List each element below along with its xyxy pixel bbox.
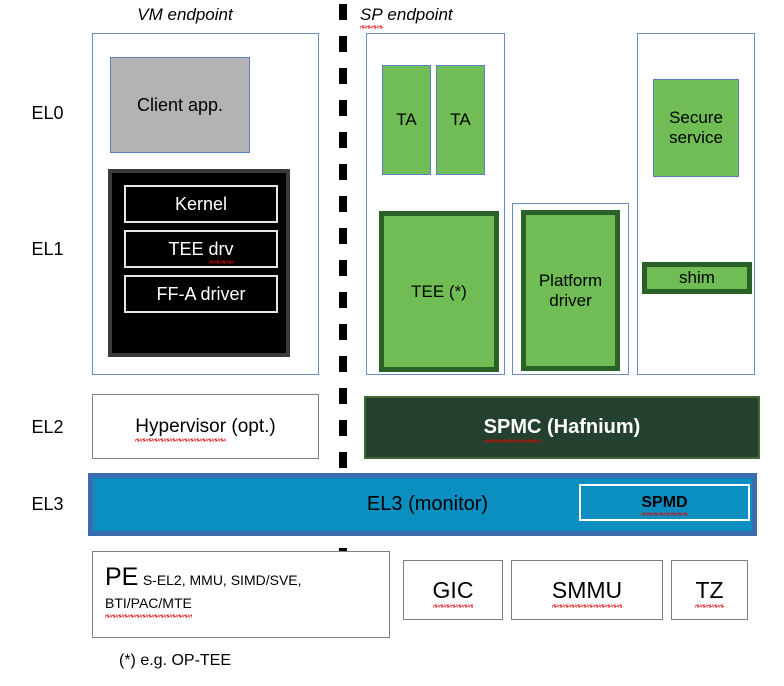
spmd-label: SPMD xyxy=(641,494,687,512)
kernel-box: Kernel xyxy=(124,185,278,223)
trusted-app-box-2: TA xyxy=(436,65,485,175)
platform-driver-line1: Platform xyxy=(539,271,602,290)
tee-box: TEE (*) xyxy=(379,211,499,372)
tz-box: TZ xyxy=(671,560,748,620)
spmc-suffix: (Hafnium) xyxy=(541,416,640,438)
el-label-el3: EL3 xyxy=(10,494,85,515)
smmu-box: SMMU xyxy=(511,560,663,620)
tz-label: TZ xyxy=(695,577,723,604)
ffa-driver-label: FF-A driver xyxy=(156,284,245,305)
hypervisor-misspelled-word: Hypervisor xyxy=(135,416,226,438)
trusted-app-box-1: TA xyxy=(382,65,431,175)
pe-box: PE S-EL2, MMU, SIMD/SVE, BTI/PAC/MTE xyxy=(92,551,390,638)
tee-driver-misspelled-word: drv xyxy=(209,239,234,260)
architecture-diagram: VM endpoint SP endpoint EL0 EL1 EL2 EL3 … xyxy=(0,0,784,686)
secure-service-line1: Secure xyxy=(669,108,723,127)
trusted-app-label-1: TA xyxy=(396,110,416,130)
gic-label: GIC xyxy=(433,577,474,604)
pe-features-line2: BTI/PAC/MTE xyxy=(105,593,192,614)
platform-driver-box: Platform driver xyxy=(521,210,620,371)
tee-driver-box: TEE drv xyxy=(124,230,278,268)
secure-service-line2: service xyxy=(669,128,723,147)
spmc-misspelled-word: SPMC xyxy=(484,416,542,439)
sp-endpoint-rest: endpoint xyxy=(383,5,453,24)
vm-os-stack-box: Kernel TEE drv FF-A driver xyxy=(108,169,290,357)
sp-endpoint-misspelled-word: SP xyxy=(360,5,383,25)
secure-service-label: Secure service xyxy=(669,108,723,147)
security-boundary-dashed-line xyxy=(339,4,347,552)
tee-driver-label: TEE drv xyxy=(168,239,233,260)
client-app-box: Client app. xyxy=(110,57,250,153)
gic-box: GIC xyxy=(403,560,503,620)
vm-endpoint-label: VM endpoint xyxy=(105,5,265,25)
tee-label: TEE (*) xyxy=(411,282,467,302)
kernel-label: Kernel xyxy=(175,194,227,215)
platform-driver-label: Platform driver xyxy=(539,271,602,310)
el-label-el0: EL0 xyxy=(10,103,85,124)
trusted-app-label-2: TA xyxy=(450,110,470,130)
footnote-label: (*) e.g. OP-TEE xyxy=(119,652,231,670)
el3-monitor-bar: EL3 (monitor) SPMD xyxy=(88,473,757,536)
spmd-box: SPMD xyxy=(579,484,750,521)
pe-features-line1: S-EL2, MMU, SIMD/SVE, xyxy=(143,572,302,588)
client-app-label: Client app. xyxy=(137,95,223,116)
ffa-driver-box: FF-A driver xyxy=(124,275,278,313)
spmc-box: SPMC (Hafnium) xyxy=(364,396,760,459)
shim-label: shim xyxy=(679,268,715,288)
hypervisor-rest: (opt.) xyxy=(226,416,276,437)
platform-driver-line2: driver xyxy=(549,291,592,310)
el-label-el1: EL1 xyxy=(10,239,85,260)
el-label-el2: EL2 xyxy=(10,417,85,438)
sp-endpoint-label: SP endpoint xyxy=(360,5,520,25)
pe-label: PE xyxy=(105,563,138,591)
hypervisor-box: Hypervisor (opt.) xyxy=(92,394,319,459)
shim-box: shim xyxy=(642,262,752,294)
spmc-label: SPMC (Hafnium) xyxy=(484,416,641,439)
secure-service-box: Secure service xyxy=(653,79,739,177)
hypervisor-label: Hypervisor (opt.) xyxy=(135,416,275,438)
smmu-label: SMMU xyxy=(552,577,622,604)
